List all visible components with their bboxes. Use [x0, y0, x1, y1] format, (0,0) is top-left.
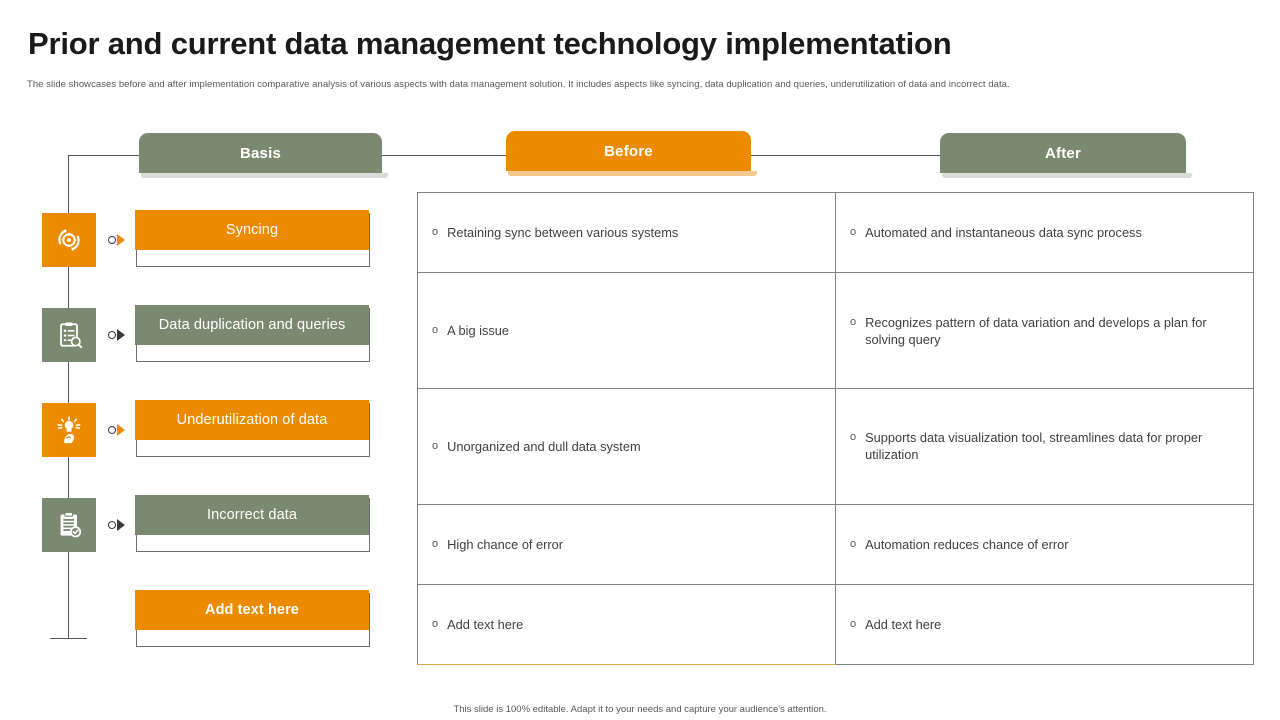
cell-text: Add text here — [865, 616, 941, 633]
bullet-glyph: o — [432, 616, 438, 633]
chevron-right-icon — [117, 234, 125, 246]
table-row: o High chance of error o Automation redu… — [418, 504, 1254, 584]
table-row: o A big issue o Recognizes pattern of da… — [418, 273, 1254, 389]
table-cell-before[interactable]: o High chance of error — [418, 504, 836, 584]
comparison-table: o Retaining sync between various systems… — [417, 192, 1254, 665]
basis-label-frame: Underutilization of data — [136, 403, 370, 457]
bullet-glyph: o — [432, 322, 438, 339]
chevron-right-icon — [117, 424, 125, 436]
basis-label-syncing[interactable]: Syncing — [135, 210, 369, 250]
slide-footer-note: This slide is 100% editable. Adapt it to… — [0, 704, 1280, 715]
header-connector-line-1 — [382, 155, 506, 156]
bullet-glyph: o — [432, 536, 438, 553]
checklist-search-icon — [42, 308, 96, 362]
bullet-glyph: o — [850, 224, 856, 241]
bullet-ring-icon — [108, 236, 116, 244]
cell-text: Retaining sync between various systems — [447, 224, 678, 241]
basis-row-data-duplication[interactable]: Data duplication and queries — [42, 307, 370, 363]
clipboard-check-icon — [42, 498, 96, 552]
basis-row-underutilization[interactable]: Underutilization of data — [42, 402, 370, 458]
cell-text: Automation reduces chance of error — [865, 536, 1068, 553]
basis-label-data-duplication[interactable]: Data duplication and queries — [135, 305, 369, 345]
table-row: o Retaining sync between various systems… — [418, 193, 1254, 273]
cell-text: Automated and instantaneous data sync pr… — [865, 224, 1142, 241]
cell-text: Unorganized and dull data system — [447, 438, 641, 455]
basis-row-incorrect-data[interactable]: Incorrect data — [42, 497, 370, 553]
table-row: o Add text here o Add text here — [418, 584, 1254, 664]
page-title: Prior and current data management techno… — [28, 26, 952, 62]
table-cell-before[interactable]: o Add text here — [418, 584, 836, 664]
basis-label-frame: Add text here — [136, 593, 370, 647]
column-header-after[interactable]: After — [940, 133, 1186, 173]
chevron-right-icon — [117, 519, 125, 531]
row-arrow-bullet — [96, 424, 136, 436]
bullet-glyph: o — [432, 224, 438, 241]
spine-foot-line — [50, 638, 87, 639]
bullet-ring-icon — [108, 521, 116, 529]
basis-row-syncing[interactable]: Syncing — [42, 212, 370, 268]
bullet-ring-icon — [108, 331, 116, 339]
table-cell-after[interactable]: o Add text here — [836, 584, 1254, 664]
chevron-right-icon — [117, 329, 125, 341]
basis-label-frame: Syncing — [136, 213, 370, 267]
table-cell-after[interactable]: o Recognizes pattern of data variation a… — [836, 273, 1254, 389]
cell-text: Recognizes pattern of data variation and… — [865, 314, 1239, 348]
bullet-ring-icon — [108, 426, 116, 434]
table-row: o Unorganized and dull data system o Sup… — [418, 388, 1254, 504]
basis-label-underutilization[interactable]: Underutilization of data — [135, 400, 369, 440]
table-cell-after[interactable]: o Automation reduces chance of error — [836, 504, 1254, 584]
cell-text: A big issue — [447, 322, 509, 339]
basis-label-frame: Incorrect data — [136, 498, 370, 552]
basis-label-frame: Data duplication and queries — [136, 308, 370, 362]
bullet-glyph: o — [850, 616, 856, 633]
header-connector-line-2 — [751, 155, 940, 156]
row-arrow-bullet — [96, 329, 136, 341]
row-arrow-bullet — [96, 234, 136, 246]
table-cell-before[interactable]: o A big issue — [418, 273, 836, 389]
cell-text: Supports data visualization tool, stream… — [865, 429, 1239, 463]
table-cell-before[interactable]: o Unorganized and dull data system — [418, 388, 836, 504]
page-subtitle: The slide showcases before and after imp… — [27, 78, 1147, 91]
spine-top-connector — [68, 155, 140, 156]
basis-label-add-text[interactable]: Add text here — [135, 590, 369, 630]
bullet-glyph: o — [850, 429, 856, 446]
cell-text: High chance of error — [447, 536, 563, 553]
bullet-glyph: o — [850, 536, 856, 553]
basis-row-add-text[interactable]: Add text here — [42, 592, 370, 648]
basis-label-incorrect-data[interactable]: Incorrect data — [135, 495, 369, 535]
table-cell-before[interactable]: o Retaining sync between various systems — [418, 193, 836, 273]
cell-text: Add text here — [447, 616, 523, 633]
bullet-glyph: o — [850, 314, 856, 331]
sync-gear-icon — [42, 213, 96, 267]
row-arrow-bullet — [96, 519, 136, 531]
hand-idea-bulb-icon — [42, 403, 96, 457]
table-cell-after[interactable]: o Supports data visualization tool, stre… — [836, 388, 1254, 504]
bullet-glyph: o — [432, 438, 438, 455]
table-cell-after[interactable]: o Automated and instantaneous data sync … — [836, 193, 1254, 273]
column-header-basis[interactable]: Basis — [139, 133, 382, 173]
column-header-before[interactable]: Before — [506, 131, 751, 171]
